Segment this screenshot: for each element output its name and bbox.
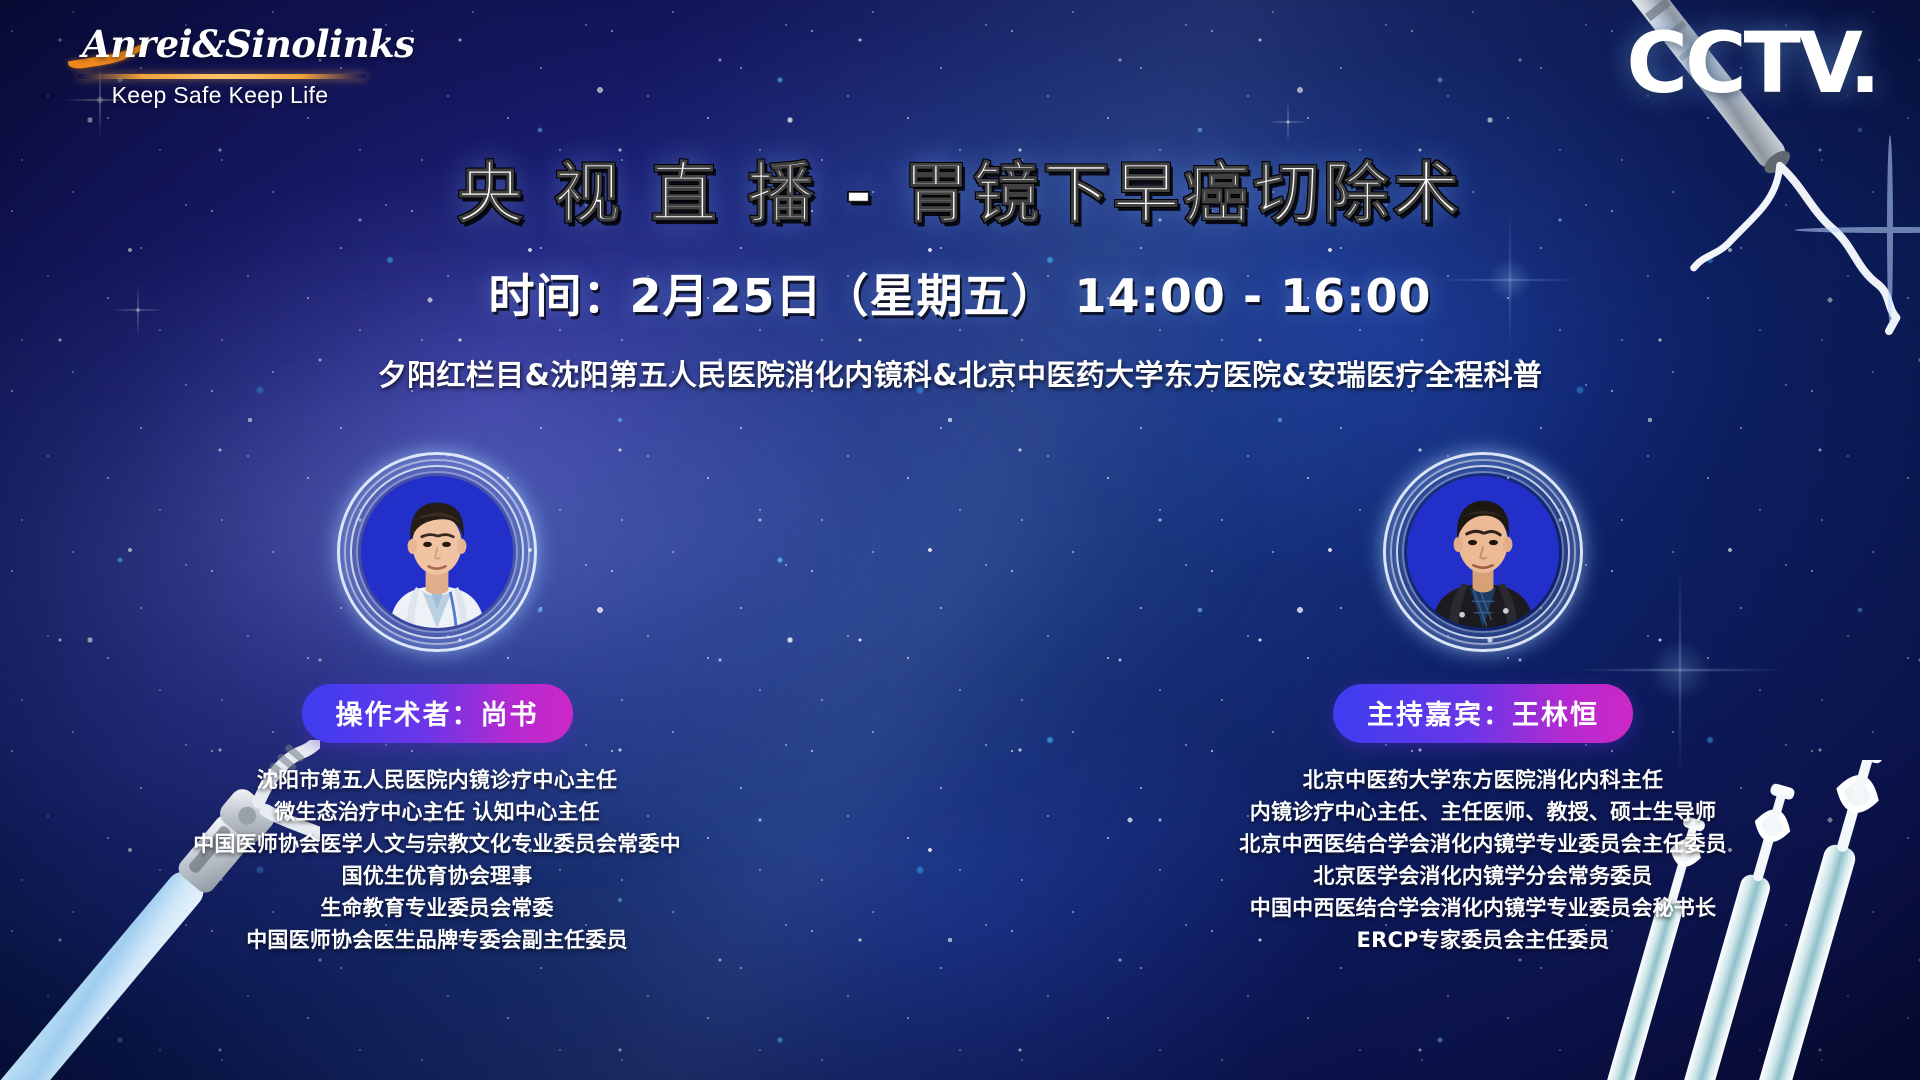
presenter-role-badge: 操作术者：尚书	[302, 684, 573, 743]
brand-name: Anrei&Sinolinks	[70, 22, 370, 66]
avatar-photo-host	[1407, 476, 1559, 628]
credential-line: 北京医学会消化内镜学分会常务委员	[1239, 861, 1727, 893]
presenter-list: 操作术者：尚书 沈阳市第五人民医院内镜诊疗中心主任 微生态治疗中心主任 认知中心…	[0, 452, 1920, 956]
event-subtitle: 夕阳红栏目&沈阳第五人民医院消化内镜科&北京中医药大学东方医院&安瑞医疗全程科普	[0, 352, 1920, 394]
live-stream-poster: Anrei&Sinolinks Keep Safe Keep Life CCTV…	[0, 0, 1920, 1080]
credential-line: 内镜诊疗中心主任、主任医师、教授、硕士生导师	[1239, 797, 1727, 829]
presenter-credentials: 沈阳市第五人民医院内镜诊疗中心主任 微生态治疗中心主任 认知中心主任 中国医师协…	[193, 765, 681, 956]
avatar	[337, 452, 537, 652]
presenter-card-host: 主持嘉宾：王林恒 北京中医药大学东方医院消化内科主任 内镜诊疗中心主任、主任医师…	[1203, 452, 1763, 956]
credential-line: 中国医师协会医学人文与宗教文化专业委员会常委中	[193, 829, 681, 861]
credential-line: ERCP专家委员会主任委员	[1239, 925, 1727, 957]
credential-line: 生命教育专业委员会常委	[193, 893, 681, 925]
headline-block: 央 视 直 播 - 胃镜下早癌切除术 时间：2月25日（星期五） 14:00 -…	[0, 140, 1920, 394]
presenter-credentials: 北京中医药大学东方医院消化内科主任 内镜诊疗中心主任、主任医师、教授、硕士生导师…	[1239, 765, 1727, 956]
avatar-photo-operator	[361, 476, 513, 628]
credential-line: 北京中医药大学东方医院消化内科主任	[1239, 765, 1727, 797]
presenter-card-operator: 操作术者：尚书 沈阳市第五人民医院内镜诊疗中心主任 微生态治疗中心主任 认知中心…	[157, 452, 717, 956]
credential-line: 微生态治疗中心主任 认知中心主任	[193, 797, 681, 829]
credential-line: 北京中西医结合学会消化内镜学专业委员会主任委员	[1239, 829, 1727, 861]
avatar	[1383, 452, 1583, 652]
brand-tagline: Keep Safe Keep Life	[70, 82, 370, 109]
brand-logo: Anrei&Sinolinks Keep Safe Keep Life	[70, 22, 370, 66]
credential-line: 中国医师协会医生品牌专委会副主任委员	[193, 925, 681, 957]
credential-line: 沈阳市第五人民医院内镜诊疗中心主任	[193, 765, 681, 797]
page-title: 央 视 直 播 - 胃镜下早癌切除术	[0, 140, 1920, 236]
cctv-logo: CCTV.	[1626, 14, 1878, 112]
event-time: 时间：2月25日（星期五） 14:00 - 16:00	[0, 260, 1920, 326]
credential-line: 中国中西医结合学会消化内镜学专业委员会秘书长	[1239, 893, 1727, 925]
presenter-role-badge: 主持嘉宾：王林恒	[1333, 684, 1633, 743]
credential-line: 国优生优育协会理事	[193, 861, 681, 893]
brand-divider	[78, 74, 366, 79]
